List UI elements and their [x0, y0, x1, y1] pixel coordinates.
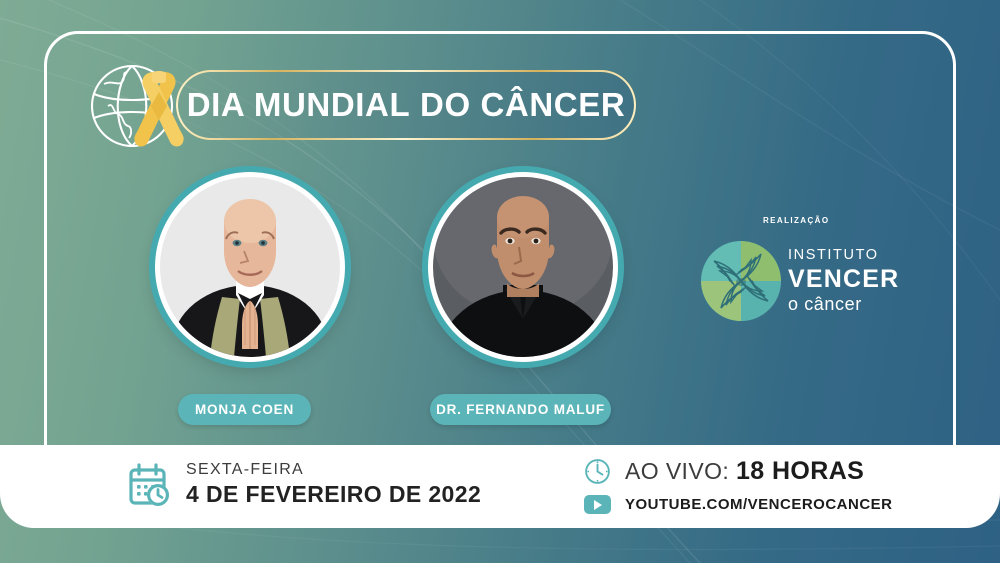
speaker-name-badge-1: MONJA COEN	[178, 394, 311, 425]
portrait-dr-fernando-maluf	[433, 177, 613, 357]
title-part-1: DIA MUNDIAL	[187, 86, 411, 123]
title-part-2: DO CÂNCER	[420, 86, 625, 123]
organizer-logo: INSTITUTO VENCER o câncer	[700, 240, 880, 325]
organizer-logo-line2: VENCER	[788, 267, 899, 292]
live-label: AO VIVO:	[625, 458, 729, 484]
event-title-banner: DIA MUNDIAL DO CÂNCER	[176, 70, 636, 140]
youtube-row[interactable]: YOUTUBE.COM/VENCEROCANCER	[584, 495, 893, 514]
event-date-block: SEXTA-FEIRA 4 DE FEVEREIRO DE 2022	[128, 461, 481, 509]
live-time: 18 HORAS	[736, 457, 864, 485]
avatar-monja-coen	[155, 172, 345, 362]
organizer-logo-text: INSTITUTO VENCER o câncer	[788, 248, 899, 313]
event-date-text: SEXTA-FEIRA 4 DE FEVEREIRO DE 2022	[186, 461, 481, 509]
live-info-block: AO VIVO: 18 HORAS YOUTUBE.COM/VENCEROCAN…	[584, 457, 893, 514]
live-time-text: AO VIVO: 18 HORAS	[625, 457, 864, 486]
page-title: DIA MUNDIAL DO CÂNCER	[187, 86, 626, 124]
youtube-url[interactable]: YOUTUBE.COM/VENCEROCANCER	[625, 496, 893, 513]
organizer-label: REALIZAÇÃO	[763, 216, 829, 225]
youtube-play-icon[interactable]	[584, 495, 611, 514]
avatar-dr-fernando-maluf	[428, 172, 618, 362]
event-weekday: SEXTA-FEIRA	[186, 461, 481, 479]
speaker-name-badge-2: DR. FERNANDO MALUF	[430, 394, 611, 425]
calendar-clock-icon	[128, 462, 172, 508]
portrait-monja-coen	[160, 177, 340, 357]
live-time-row: AO VIVO: 18 HORAS	[584, 457, 893, 486]
poster-canvas: DIA MUNDIAL DO CÂNCER	[0, 0, 1000, 563]
organizer-logo-line3: o câncer	[788, 295, 899, 313]
footer-panel: SEXTA-FEIRA 4 DE FEVEREIRO DE 2022	[0, 445, 1000, 528]
organizer-logo-line1: INSTITUTO	[788, 248, 899, 263]
instituto-vencer-o-cancer-logo-icon	[700, 240, 782, 322]
event-date: 4 DE FEVEREIRO DE 2022	[186, 481, 481, 509]
clock-icon	[584, 458, 611, 485]
